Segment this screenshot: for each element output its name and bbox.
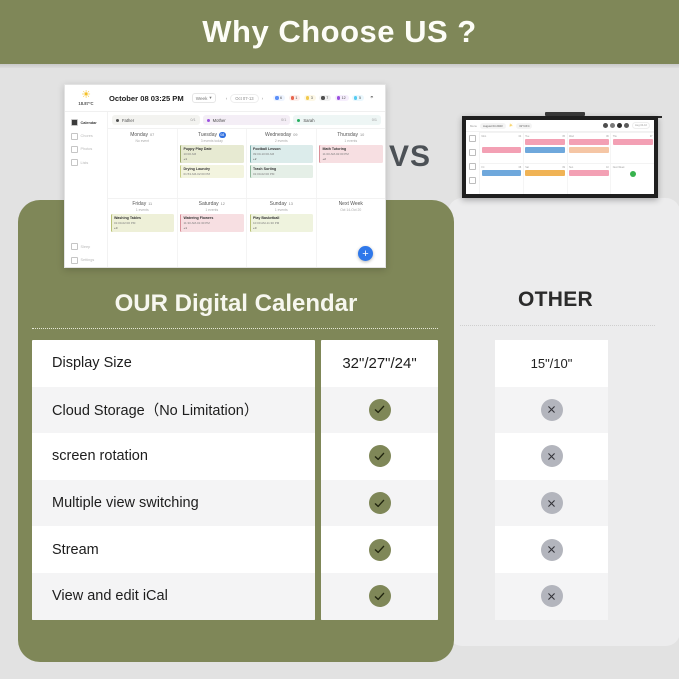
day-subtitle: Oct 14-Oct 20 — [319, 208, 383, 212]
member-chip-name: Father — [122, 118, 134, 123]
day-header: Mon04 — [482, 135, 522, 138]
week-grid: Monday07No eventTuesday083 events todayP… — [108, 128, 385, 267]
day-header: Fri08 — [482, 166, 522, 169]
avatar — [603, 123, 609, 129]
table-row — [321, 433, 438, 480]
day-number: 10 — [360, 133, 364, 137]
day-column[interactable]: Wednesday092 eventsFootball Lesson09:00-… — [247, 129, 317, 198]
event-time: 11:30 AM-01:30 PM — [184, 221, 242, 225]
page-title: Why Choose US ? — [202, 14, 476, 50]
event-title: Watering Flowers — [184, 216, 242, 220]
event-card — [482, 170, 522, 176]
day-number: 04 — [519, 135, 522, 138]
day-header: Sun10 — [569, 166, 609, 169]
sidebar-item-label: Chores — [81, 134, 93, 138]
sidebar-item-chores[interactable]: Chores — [65, 129, 107, 142]
member-color-dot — [275, 96, 278, 99]
add-event-button[interactable]: + — [358, 246, 373, 261]
sidebar-spacer — [65, 170, 107, 241]
sidebar-item-label: Lists — [81, 161, 89, 165]
avatar — [624, 123, 630, 129]
day-name: Thursday — [337, 132, 358, 138]
day-header: Sat09 — [525, 166, 565, 169]
calendar-app: ☀ 18.87°C October 08 03:25 PM Week ▾ ‹ O… — [65, 85, 385, 267]
day-header: Next Week — [613, 166, 653, 169]
calendar-main: Father0/1Mother0/1Sarah0/1 Monday07No ev… — [108, 112, 385, 267]
member-chip-row[interactable]: Father0/1Mother0/1Sarah0/1 — [108, 112, 385, 128]
table-row: Multiple view switching — [32, 480, 315, 527]
member-color-dot — [337, 96, 340, 99]
sidebar-item-settings[interactable]: Settings — [65, 254, 107, 267]
close-icon — [541, 399, 563, 421]
day-column[interactable]: Monday07No event — [108, 129, 178, 198]
event-title: Trash Sorting — [253, 167, 311, 171]
event-attendees: +0 — [253, 226, 311, 230]
chevron-down-icon: ▾ — [209, 95, 211, 101]
day-number: 06 — [606, 135, 609, 138]
our-column-title: OUR Digital Calendar — [18, 290, 454, 318]
day-name: Monday — [130, 132, 148, 138]
day-header: Tuesday08 — [180, 132, 244, 139]
add-event-button — [630, 171, 636, 177]
other-values-table: 15"/10" — [495, 340, 608, 620]
close-icon — [541, 445, 563, 467]
member-badge-group[interactable]: 6137125 — [273, 95, 364, 101]
event-card — [482, 147, 522, 153]
day-column: Tue05 — [524, 133, 568, 163]
day-column[interactable]: Saturday121 eventsWatering Flowers11:30 … — [178, 199, 248, 268]
sidebar-item-calendar[interactable]: Calendar — [65, 116, 107, 129]
day-number: 07 — [150, 133, 154, 137]
sidebar-item-label: Settings — [81, 258, 95, 262]
day-number: 05 — [562, 135, 565, 138]
table-row — [321, 480, 438, 527]
our-comparison-table: Display SizeCloud Storage（No Limitation）… — [32, 340, 438, 620]
calendar-topbar: ☀ 18.87°C October 08 03:25 PM Week ▾ ‹ O… — [65, 85, 385, 112]
sidebar-item-label: Calendar — [81, 121, 97, 125]
day-name: Friday — [132, 201, 146, 207]
weather-widget: ☀ 18.87°C — [65, 90, 107, 106]
day-name: Thu — [613, 135, 617, 138]
event-time: 10:00 AM — [184, 152, 242, 156]
day-header: Thu07 — [613, 135, 653, 138]
display-size-value: 32"/27"/24" — [342, 355, 416, 372]
avatar — [610, 123, 616, 129]
event-time: 01:00-02:00 PM — [253, 172, 311, 176]
day-subtitle: 1 events — [319, 139, 383, 143]
day-header: Saturday12 — [180, 201, 244, 207]
day-column: Mon04 — [480, 133, 524, 163]
event-card — [569, 139, 609, 145]
member-badge-count: 6 — [280, 96, 282, 100]
sidebar-item-sleep[interactable]: Sleep — [65, 240, 107, 253]
event-card — [525, 170, 565, 176]
day-number: 08 — [219, 132, 226, 139]
feature-label: Cloud Storage（No Limitation） — [52, 399, 258, 420]
other-device-grid: Mon04Tue05Wed06Thu07Fri08Sat09Sun10Next … — [480, 132, 654, 194]
day-column[interactable]: Thursday101 eventsMath Tutoring11:00 AM-… — [317, 129, 386, 198]
day-column: Fri08 — [480, 164, 524, 194]
member-chip-count: 0/1 — [372, 118, 377, 122]
comparison-infographic: Why Choose US ? OTHER 15"/10" Menu Augus… — [0, 0, 679, 679]
day-number: 10 — [606, 166, 609, 169]
member-color-dot — [297, 119, 300, 122]
event-card — [525, 147, 565, 153]
day-number: 09 — [293, 133, 297, 137]
day-column[interactable]: Tuesday083 events todayPuppy Play Date10… — [178, 129, 248, 198]
other-device-topbar: Menu August 04 2023 ☀ 31°C/Fri Aug 04-10 — [466, 120, 654, 132]
table-row: Display Size — [32, 340, 315, 387]
day-column: Next Week — [611, 164, 654, 194]
day-header: Next Week — [319, 201, 383, 207]
event-attendees: +0 — [114, 226, 172, 230]
member-badge[interactable]: 6 — [273, 95, 285, 101]
check-icon — [369, 399, 391, 421]
event-card — [569, 170, 609, 176]
event-time: 01:00-02:00 PM — [114, 221, 172, 225]
temperature-label: 18.87°C — [78, 101, 93, 106]
other-device-body: Mon04Tue05Wed06Thu07Fri08Sat09Sun10Next … — [466, 132, 654, 194]
week-row: Monday07No eventTuesday083 events todayP… — [108, 128, 385, 198]
event-card — [613, 139, 653, 145]
day-header: Thursday10 — [319, 132, 383, 138]
member-color-dot — [116, 119, 119, 122]
other-divider — [460, 325, 655, 326]
other-temp-pill: 31°C/Fri — [516, 123, 532, 129]
event-card — [569, 147, 609, 153]
member-chip[interactable]: Mother0/1 — [203, 115, 291, 125]
day-column[interactable]: Friday111 eventsWashing Tables01:00-02:0… — [108, 199, 178, 268]
table-row — [495, 480, 608, 527]
feature-label: Multiple view switching — [52, 495, 199, 511]
banner-shadow — [0, 64, 679, 68]
close-icon — [541, 585, 563, 607]
sun-icon: ☀ — [81, 90, 91, 100]
day-name: Next Week — [339, 201, 363, 207]
member-chip[interactable]: Father0/1 — [112, 115, 200, 125]
day-name: Tue — [525, 135, 529, 138]
our-device-mockup: ☀ 18.87°C October 08 03:25 PM Week ▾ ‹ O… — [64, 84, 386, 268]
header-banner: Why Choose US ? — [0, 0, 679, 64]
event-card[interactable]: Trash Sorting01:00-02:00 PM — [250, 165, 314, 178]
chores-icon — [71, 133, 78, 140]
event-title: Play Basketball — [253, 216, 311, 220]
event-time: 10:00 AM-11:30 PM — [253, 221, 311, 225]
event-card — [525, 139, 565, 145]
vs-label: VS — [389, 140, 431, 174]
member-color-dot — [306, 96, 309, 99]
view-select[interactable]: Week ▾ — [192, 93, 216, 103]
photos-icon — [469, 163, 476, 170]
member-chip-name: Mother — [213, 118, 226, 123]
member-color-dot — [207, 119, 210, 122]
table-row: 15"/10" — [495, 340, 608, 387]
day-name: Tuesday — [198, 132, 217, 138]
sun-icon: ☀ — [509, 123, 513, 129]
wifi-icon: ◓ — [370, 95, 374, 101]
calendar-body: CalendarChoresPhotosListsSleepSettings F… — [65, 112, 385, 267]
table-row — [321, 387, 438, 434]
check-icon — [369, 585, 391, 607]
member-badge[interactable]: 7 — [319, 95, 331, 101]
event-time: 11:00 AM-02:00 PM — [323, 152, 381, 156]
week-row: Fri08Sat09Sun10Next Week — [480, 163, 654, 194]
table-row — [495, 433, 608, 480]
day-column: Sat09 — [524, 164, 568, 194]
member-chip-name: Sarah — [303, 118, 314, 123]
day-name: Sun — [569, 166, 573, 169]
event-attendees: +2 — [323, 157, 381, 161]
event-title: Drying Laundry — [184, 167, 242, 171]
day-header: Monday07 — [111, 132, 175, 138]
table-row: 32"/27"/24" — [321, 340, 438, 387]
member-chip-count: 0/1 — [190, 118, 195, 122]
feature-label: View and edit iCal — [52, 588, 168, 604]
day-name: Wed — [569, 135, 574, 138]
week-row: Friday111 eventsWashing Tables01:00-02:0… — [108, 198, 385, 268]
event-title: Washing Tables — [114, 216, 172, 220]
other-column-title: OTHER — [448, 288, 663, 312]
day-column: Wed06 — [568, 133, 612, 163]
check-icon — [369, 492, 391, 514]
calendar-sidebar[interactable]: CalendarChoresPhotosListsSleepSettings — [65, 112, 108, 267]
day-column: Thu07 — [611, 133, 654, 163]
close-icon — [541, 539, 563, 561]
member-color-dot — [354, 96, 357, 99]
avatar — [617, 123, 623, 129]
member-color-dot — [291, 96, 294, 99]
gear-icon — [71, 257, 78, 264]
event-title: Puppy Play Date — [184, 147, 242, 151]
day-header: Wed06 — [569, 135, 609, 138]
other-range-label: Aug 04-10 — [632, 122, 650, 129]
table-row — [321, 526, 438, 573]
day-subtitle: 3 events today — [180, 139, 244, 143]
our-values-column: 32"/27"/24" — [321, 340, 438, 620]
view-select-label: Week — [196, 96, 208, 101]
event-card — [482, 139, 522, 145]
day-column[interactable]: Sunday131 eventsPlay Basketball10:00 AM-… — [247, 199, 317, 268]
day-name: Sat — [525, 166, 529, 169]
member-badge[interactable]: 5 — [352, 95, 364, 101]
feature-label: Stream — [52, 542, 99, 558]
sleep-icon — [71, 243, 78, 250]
chores-icon — [469, 149, 476, 156]
feature-label: screen rotation — [52, 448, 148, 464]
day-header: Friday11 — [111, 201, 175, 207]
event-time: 01:53 AM-02:00 PM — [184, 172, 242, 176]
current-datetime: October 08 03:25 PM — [109, 94, 184, 103]
member-badge[interactable]: 1 — [289, 95, 301, 101]
day-column: Sun10 — [568, 164, 612, 194]
check-icon — [369, 445, 391, 467]
event-card[interactable]: Puppy Play Date10:00 AM+1 — [180, 145, 244, 163]
day-number: 07 — [650, 135, 653, 138]
other-device-screen: Menu August 04 2023 ☀ 31°C/Fri Aug 04-10… — [466, 120, 654, 194]
day-name: Sunday — [270, 201, 287, 207]
table-row — [495, 526, 608, 573]
feature-column: Display SizeCloud Storage（No Limitation）… — [32, 340, 315, 620]
day-header: Sunday13 — [250, 201, 314, 207]
table-row: Stream — [32, 526, 315, 573]
day-name: Fri — [482, 166, 485, 169]
week-row: Mon04Tue05Wed06Thu07 — [480, 132, 654, 163]
member-color-dot — [321, 96, 324, 99]
next-week-button[interactable]: › — [262, 96, 264, 101]
date-range-label: Oct 07-13 — [230, 94, 258, 103]
day-header: Tue05 — [525, 135, 565, 138]
our-divider — [32, 328, 438, 329]
event-card[interactable]: Play Basketball10:00 AM-11:30 PM+0 — [250, 214, 314, 232]
event-time: 09:00-10:00 AM — [253, 152, 311, 156]
day-subtitle: 2 events — [250, 139, 314, 143]
day-subtitle: 1 events — [111, 208, 175, 212]
event-title: Math Tutoring — [323, 147, 381, 151]
member-chip[interactable]: Sarah0/1 — [293, 115, 381, 125]
table-row: View and edit iCal — [32, 573, 315, 620]
table-row — [495, 573, 608, 620]
member-badge[interactable]: 3 — [304, 95, 316, 101]
day-name: Saturday — [199, 201, 219, 207]
table-row — [321, 573, 438, 620]
sidebar-item-photos[interactable]: Photos — [65, 143, 107, 156]
member-chip-count: 0/1 — [281, 118, 286, 122]
prev-week-button[interactable]: ‹ — [226, 96, 228, 101]
table-row — [495, 387, 608, 434]
event-card[interactable]: Math Tutoring11:00 AM-02:00 PM+2 — [319, 145, 383, 163]
day-number: 09 — [562, 166, 565, 169]
event-card[interactable]: Football Lesson09:00-10:00 AM+2 — [250, 145, 314, 163]
member-badge-count: 7 — [326, 96, 328, 100]
day-name: Wednesday — [265, 132, 291, 138]
event-card[interactable]: Watering Flowers11:30 AM-01:30 PM+1 — [180, 214, 244, 232]
day-number: 08 — [519, 166, 522, 169]
other-avatar-group — [603, 123, 630, 129]
day-header: Wednesday09 — [250, 132, 314, 138]
other-date-pill: August 04 2023 — [480, 123, 506, 129]
day-subtitle: No event — [111, 139, 175, 143]
event-attendees: +2 — [253, 157, 311, 161]
calendar-icon — [71, 119, 78, 126]
photos-icon — [71, 146, 78, 153]
table-row: Cloud Storage（No Limitation） — [32, 387, 315, 434]
member-badge-count: 3 — [311, 96, 313, 100]
event-card[interactable]: Drying Laundry01:53 AM-02:00 PM — [180, 165, 244, 178]
member-badge-count: 5 — [359, 96, 361, 100]
day-name: Mon — [482, 135, 487, 138]
day-number: 12 — [221, 202, 225, 206]
day-subtitle: 1 events — [180, 208, 244, 212]
other-menu-label: Menu — [470, 124, 477, 128]
day-number: 11 — [148, 202, 152, 206]
lists-icon — [71, 159, 78, 166]
display-size-value: 15"/10" — [531, 356, 573, 371]
lists-icon — [469, 177, 476, 184]
event-attendees: +1 — [184, 226, 242, 230]
date-navigator[interactable]: ‹ Oct 07-13 › — [226, 94, 263, 103]
day-number: 13 — [289, 202, 293, 206]
day-name: Next Week — [613, 166, 625, 169]
member-badge-count: 1 — [295, 96, 297, 100]
sidebar-item-label: Sleep — [81, 245, 91, 249]
event-title: Football Lesson — [253, 147, 311, 151]
feature-label: Display Size — [52, 355, 132, 371]
day-column[interactable]: Next WeekOct 14-Oct 20+ — [317, 199, 386, 268]
day-subtitle: 1 events — [250, 208, 314, 212]
check-icon — [369, 539, 391, 561]
event-attendees: +1 — [184, 157, 242, 161]
other-device-sidebar — [466, 132, 480, 194]
member-badge[interactable]: 12 — [335, 95, 349, 101]
table-row: screen rotation — [32, 433, 315, 480]
event-card[interactable]: Washing Tables01:00-02:00 PM+0 — [111, 214, 175, 232]
close-icon — [541, 492, 563, 514]
calendar-icon — [469, 135, 476, 142]
sidebar-item-lists[interactable]: Lists — [65, 156, 107, 169]
other-device-mockup: Menu August 04 2023 ☀ 31°C/Fri Aug 04-10… — [462, 116, 658, 198]
sidebar-item-label: Photos — [81, 147, 93, 151]
member-badge-count: 12 — [342, 96, 346, 100]
